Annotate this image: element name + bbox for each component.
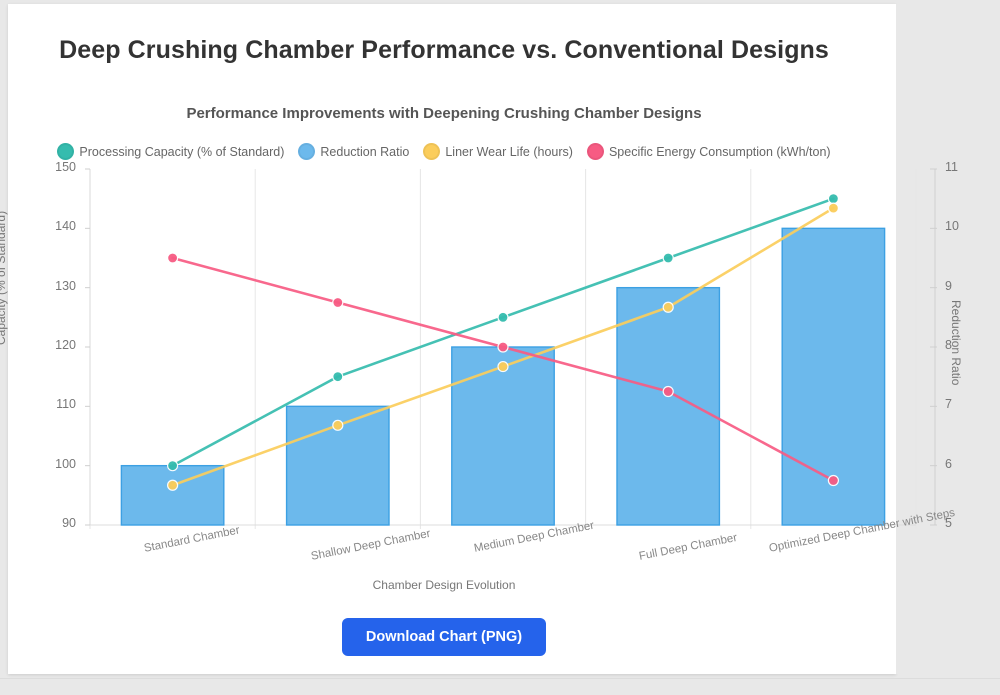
y2-tick-label: 6 <box>945 457 985 471</box>
specific-point-3[interactable] <box>663 387 673 397</box>
liner-point-4[interactable] <box>828 203 838 213</box>
y-tick-label: 100 <box>32 457 76 471</box>
processing-point-4[interactable] <box>828 194 838 204</box>
specific-point-4[interactable] <box>828 476 838 486</box>
liner-point-2[interactable] <box>498 362 508 372</box>
processing-point-2[interactable] <box>498 312 508 322</box>
y-tick-label: 130 <box>32 279 76 293</box>
y-axis-title: Capacity (% of Standard) <box>0 211 8 345</box>
y-tick-label: 150 <box>32 160 76 174</box>
liner-point-0[interactable] <box>168 480 178 490</box>
download-chart-button[interactable]: Download Chart (PNG) <box>342 618 546 656</box>
processing-point-3[interactable] <box>663 253 673 263</box>
y2-tick-label: 9 <box>945 279 985 293</box>
processing-point-0[interactable] <box>168 461 178 471</box>
y2-tick-label: 7 <box>945 397 985 411</box>
y-tick-label: 90 <box>32 516 76 530</box>
x-axis-title: Chamber Design Evolution <box>0 578 888 592</box>
liner-point-1[interactable] <box>333 420 343 430</box>
y2-tick-label: 10 <box>945 219 985 233</box>
y2-tick-label: 11 <box>945 160 985 174</box>
app-root: Deep Crushing Chamber Performance vs. Co… <box>0 0 1000 694</box>
specific-point-1[interactable] <box>333 298 343 308</box>
liner-point-3[interactable] <box>663 302 673 312</box>
y-tick-label: 120 <box>32 338 76 352</box>
download-button-wrap: Download Chart (PNG) <box>0 618 888 656</box>
y-tick-label: 140 <box>32 219 76 233</box>
specific-point-2[interactable] <box>498 342 508 352</box>
y2-tick-label: 8 <box>945 338 985 352</box>
bar-3[interactable] <box>617 288 719 525</box>
bar-2[interactable] <box>452 347 554 525</box>
y-tick-label: 110 <box>32 397 76 411</box>
specific-point-0[interactable] <box>168 253 178 263</box>
bar-0[interactable] <box>121 466 223 525</box>
processing-point-1[interactable] <box>333 372 343 382</box>
